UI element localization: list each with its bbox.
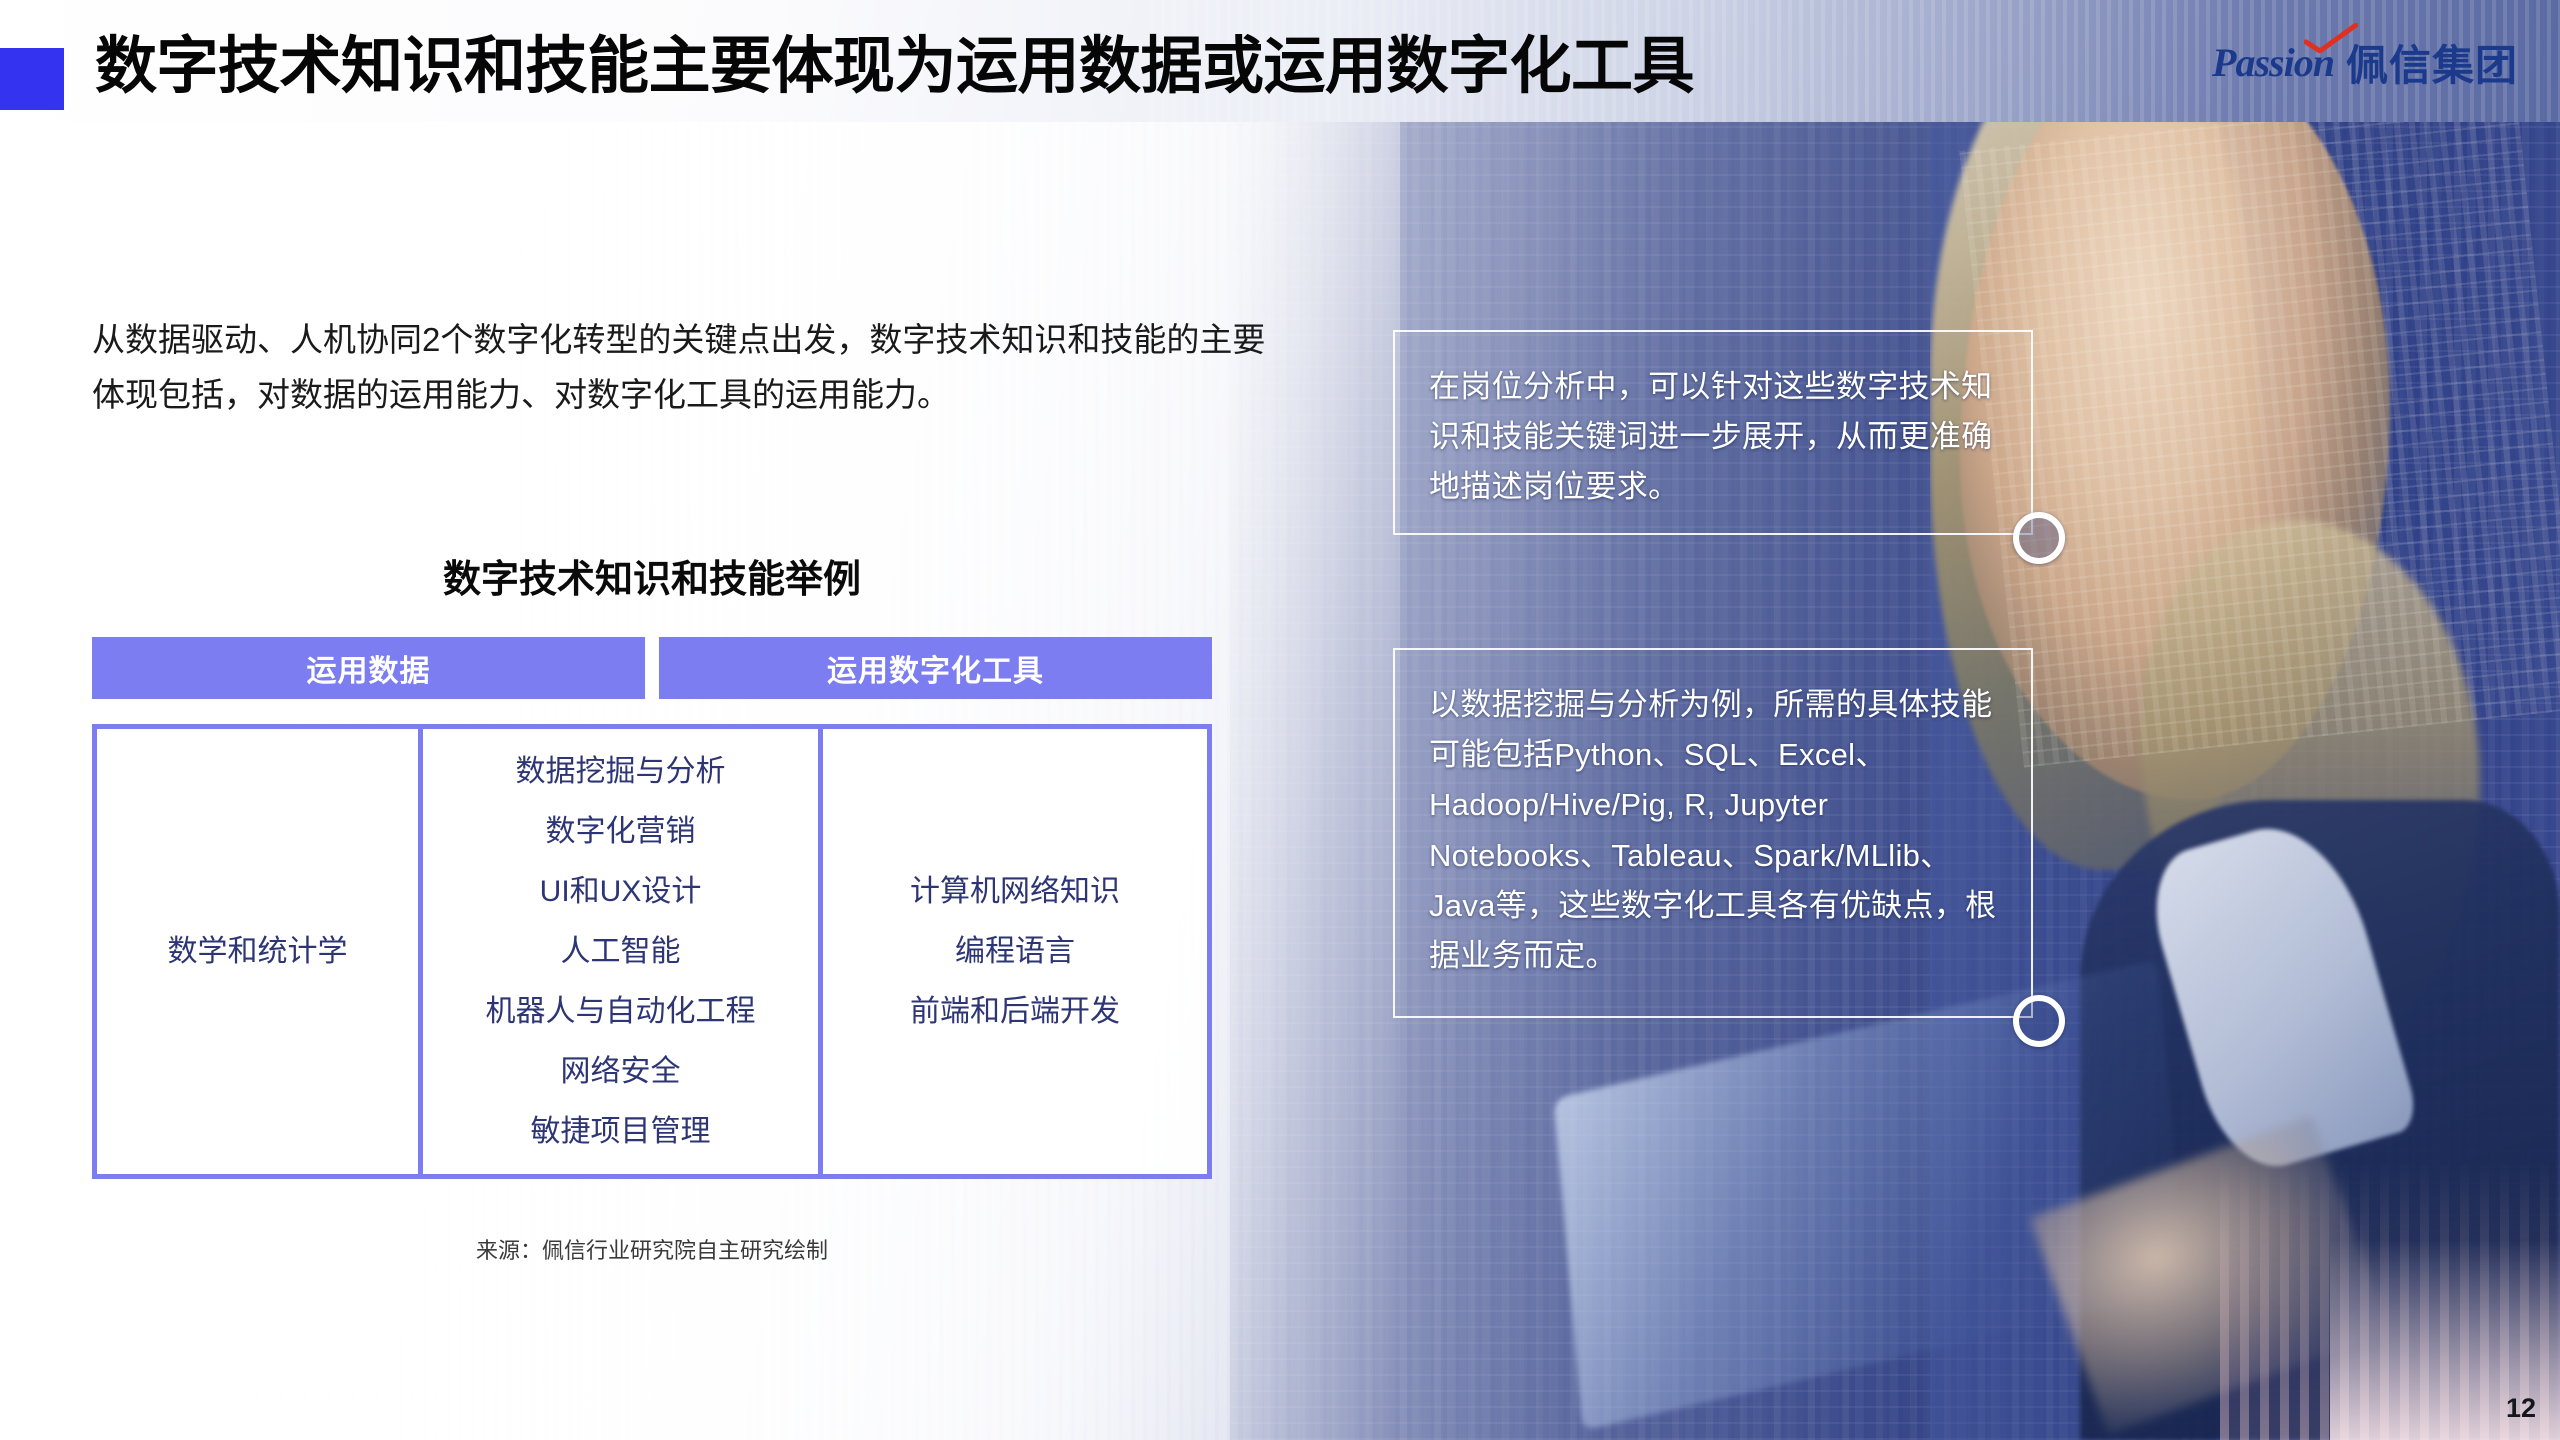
matrix-item: 人工智能 <box>561 922 681 982</box>
table-title: 数字技术知识和技能举例 <box>92 548 1212 603</box>
table-header-use-data: 运用数据 <box>92 637 645 699</box>
callout-box-job-analysis: 在岗位分析中，可以针对这些数字技术知识和技能关键词进一步展开，从而更准确地描述岗… <box>1393 330 2033 535</box>
skills-matrix: 数学和统计学 数据挖掘与分析 数字化营销 UI和UX设计 人工智能 机器人与自动… <box>92 724 1212 1179</box>
matrix-item: 数学和统计学 <box>168 922 348 982</box>
source-note: 来源：佩信行业研究院自主研究绘制 <box>92 1233 1212 1265</box>
matrix-item: 敏捷项目管理 <box>531 1102 711 1162</box>
page-number: 12 <box>2506 1393 2536 1424</box>
brand-logo: Passion 佩信集团 <box>2212 36 2518 88</box>
matrix-column-3: 计算机网络知识 编程语言 前端和后端开发 <box>823 729 1207 1174</box>
matrix-item: 前端和后端开发 <box>910 982 1120 1042</box>
slide-canvas: 数字技术知识和技能主要体现为运用数据或运用数字化工具 Passion 佩信集团 … <box>0 0 2560 1440</box>
title-accent-square <box>0 48 64 110</box>
callout-node-dot <box>2013 512 2065 564</box>
matrix-item: 计算机网络知识 <box>910 862 1120 922</box>
logo-wordmark-cn: 佩信集团 <box>2346 32 2518 93</box>
intro-paragraph: 从数据驱动、人机协同2个数字化转型的关键点出发，数字技术知识和技能的主要体现包括… <box>92 312 1272 423</box>
content-area-wash <box>0 0 1400 1440</box>
matrix-column-1: 数学和统计学 <box>97 729 423 1174</box>
page-title: 数字技术知识和技能主要体现为运用数据或运用数字化工具 <box>95 28 1895 106</box>
callout-box-data-mining-tools: 以数据挖掘与分析为例，所需的具体技能可能包括Python、SQL、Excel、H… <box>1393 648 2033 1018</box>
table-column-headers: 运用数据 运用数字化工具 <box>92 637 1212 699</box>
matrix-column-2: 数据挖掘与分析 数字化营销 UI和UX设计 人工智能 机器人与自动化工程 网络安… <box>423 729 823 1174</box>
matrix-item: 数字化营销 <box>546 802 696 862</box>
matrix-item: 网络安全 <box>561 1042 681 1102</box>
table-header-use-digital-tools: 运用数字化工具 <box>659 637 1212 699</box>
matrix-item: 编程语言 <box>955 922 1075 982</box>
matrix-item: 数据挖掘与分析 <box>516 742 726 802</box>
logo-check-icon <box>2304 23 2358 53</box>
matrix-item: UI和UX设计 <box>540 862 702 922</box>
callout-node-dot <box>2013 995 2065 1047</box>
matrix-item: 机器人与自动化工程 <box>486 982 756 1042</box>
photo-code-overlay <box>1959 92 2560 767</box>
